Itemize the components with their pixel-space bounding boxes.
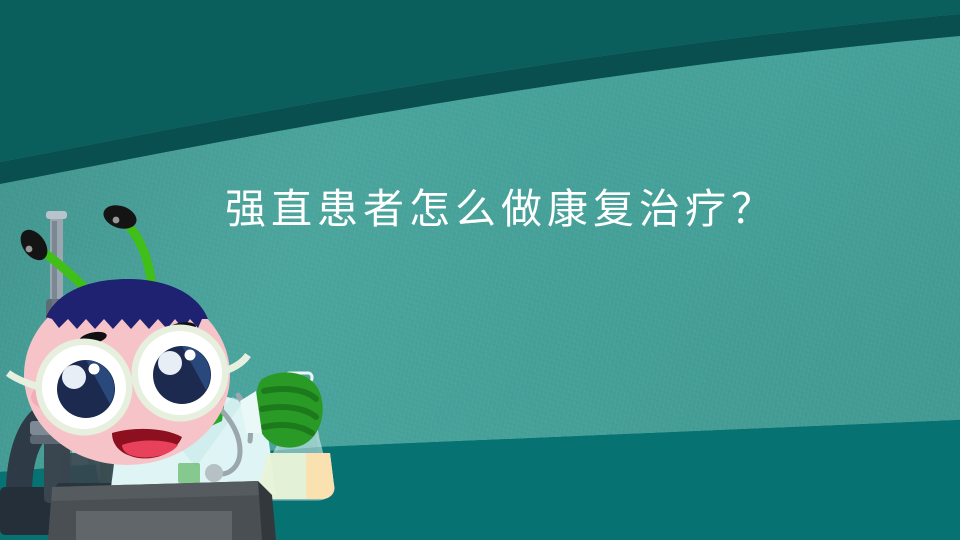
antenna-tips — [15, 201, 139, 265]
illustration-scene — [0, 195, 400, 540]
stethoscope-chestpiece — [205, 464, 223, 482]
computer-monitor — [48, 481, 276, 540]
slide-canvas: 强直患者怎么做康复治疗？ — [0, 0, 960, 540]
